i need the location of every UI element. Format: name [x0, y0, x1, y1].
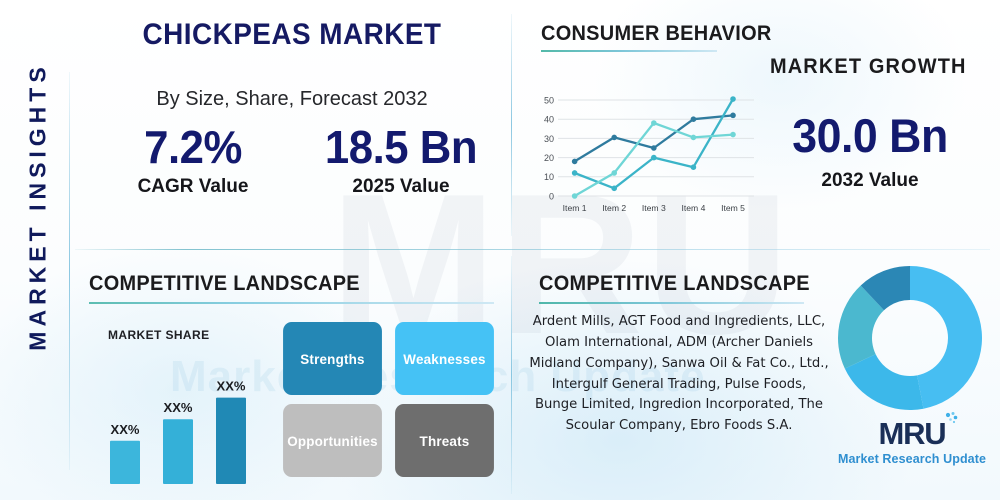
line-chart-x-tick: Item 5 [721, 203, 745, 213]
line-chart-svg: 01020304050Item 1Item 2Item 3Item 4Item … [532, 92, 760, 224]
line-data-point [691, 135, 697, 141]
logo: MRU Market Research Update [832, 418, 992, 466]
line-chart-y-tick: 20 [544, 153, 554, 163]
line-chart-y-tick: 40 [544, 115, 554, 125]
competitive-landscape-right-panel: COMPETITIVE LANDSCAPE Ardent Mills, AGT … [512, 250, 1000, 500]
line-data-point [691, 116, 697, 122]
line-chart-y-tick: 50 [544, 95, 554, 105]
section-rule-consumer-behavior [541, 50, 717, 52]
line-data-point [651, 145, 657, 151]
section-rule-competitive-left [89, 302, 494, 304]
section-heading-market-growth: MARKET GROWTH [770, 55, 967, 79]
page-subtitle: By Size, Share, Forecast 2032 [76, 88, 508, 111]
swot-grid: StrengthsWeaknessesOpportunitiesThreats [281, 322, 496, 482]
line-data-point [691, 164, 697, 170]
bar-chart-bar [163, 419, 193, 484]
consumer-behavior-panel: CONSUMER BEHAVIOR MARKET GROWTH 30.0 Bn … [512, 0, 1000, 248]
section-heading-competitive-landscape-left: COMPETITIVE LANDSCAPE [89, 272, 360, 296]
line-chart-x-tick: Item 3 [642, 203, 666, 213]
stat-2025-label: 2025 Value [294, 176, 508, 198]
line-chart: 01020304050Item 1Item 2Item 3Item 4Item … [532, 92, 760, 224]
competitive-landscape-left-panel: COMPETITIVE LANDSCAPE MARKET SHARE XX%XX… [76, 250, 508, 500]
line-data-point [572, 193, 578, 199]
donut-chart [834, 262, 986, 414]
line-data-point [611, 170, 617, 176]
swot-box-opportunities[interactable]: Opportunities [283, 404, 382, 477]
line-series-series-2 [575, 99, 733, 188]
stat-2025-value: 18.5 Bn [299, 124, 502, 172]
logo-tagline: Market Research Update [832, 452, 992, 466]
bar-chart-data-label: XX% [111, 422, 140, 437]
line-chart-x-tick: Item 4 [681, 203, 705, 213]
stat-2032-label: 2032 Value [760, 170, 980, 192]
line-data-point [572, 170, 578, 176]
line-chart-y-tick: 10 [544, 172, 554, 182]
line-data-point [611, 186, 617, 192]
swot-box-threats[interactable]: Threats [395, 404, 494, 477]
line-data-point [730, 96, 736, 102]
divider-vertical-left [69, 72, 70, 470]
infographic-canvas: MRU Market Research Update MARKET INSIGH… [0, 0, 1000, 500]
swot-box-weaknesses[interactable]: Weaknesses [395, 322, 494, 395]
line-data-point [651, 120, 657, 126]
line-chart-x-tick: Item 2 [602, 203, 626, 213]
line-chart-y-tick: 30 [544, 134, 554, 144]
donut-slice [910, 266, 982, 409]
page-title: CHICKPEAS MARKET [91, 18, 493, 52]
logo-mark-text: MRU [879, 416, 946, 451]
bar-chart-bar [110, 441, 140, 484]
line-data-point [611, 135, 617, 141]
stat-2025: 18.5 Bn 2025 Value [294, 124, 508, 198]
side-label-market-insights: MARKET INSIGHTS [25, 57, 52, 357]
bar-chart-svg: XX%XX%XX% [96, 326, 271, 491]
water-droplet-icon [943, 411, 959, 431]
bar-chart-data-label: XX% [217, 379, 246, 394]
section-rule-competitive-right [539, 302, 804, 304]
line-data-point [730, 132, 736, 138]
stat-cagr-value: 7.2% [93, 124, 293, 172]
bar-chart-data-label: XX% [164, 400, 193, 415]
bar-chart-bar [216, 398, 246, 484]
line-data-point [730, 113, 736, 119]
line-data-point [572, 159, 578, 165]
line-chart-x-tick: Item 1 [563, 203, 587, 213]
line-chart-y-tick: 0 [549, 191, 554, 201]
swot-box-strengths[interactable]: Strengths [283, 322, 382, 395]
company-list: Ardent Mills, AGT Food and Ingredients, … [529, 312, 829, 437]
donut-chart-svg [834, 262, 986, 414]
logo-mark: MRU [879, 418, 946, 449]
section-heading-competitive-landscape-right: COMPETITIVE LANDSCAPE [539, 272, 810, 296]
stat-cagr-label: CAGR Value [88, 176, 298, 198]
title-panel: CHICKPEAS MARKET By Size, Share, Forecas… [76, 0, 508, 248]
section-heading-consumer-behavior: CONSUMER BEHAVIOR [541, 22, 772, 46]
stat-2032-value: 30.0 Bn [766, 108, 975, 163]
line-data-point [651, 155, 657, 161]
stat-cagr: 7.2% CAGR Value [88, 124, 298, 198]
